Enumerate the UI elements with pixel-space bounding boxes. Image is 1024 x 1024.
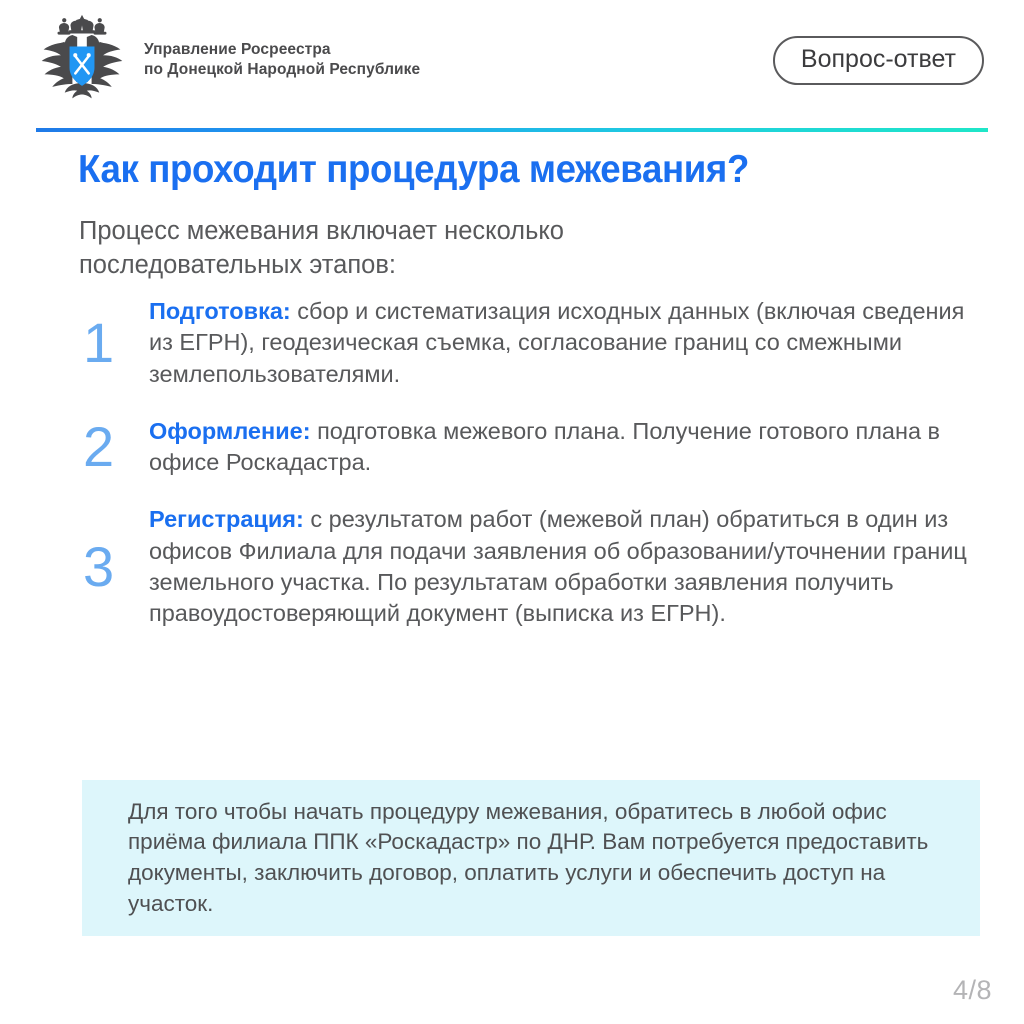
step-item: 3 Регистрация: с результатом работ (меже… <box>79 504 969 629</box>
step-label: Оформление: <box>149 418 311 444</box>
step-label: Подготовка: <box>149 298 291 324</box>
step-body: Подготовка: сбор и систематизация исходн… <box>149 296 969 390</box>
step-item: 2 Оформление: подготовка межевого плана.… <box>79 416 969 479</box>
intro-text: Процесс межевания включает несколько пос… <box>79 214 759 282</box>
step-item: 1 Подготовка: сбор и систематизация исхо… <box>79 296 969 390</box>
note-box: Для того чтобы начать процедуру межевани… <box>82 780 980 936</box>
qa-badge: Вопрос-ответ <box>773 36 984 85</box>
brand-block: Управление Росреестра по Донецкой Народн… <box>34 12 420 108</box>
step-body: Регистрация: с результатом работ (межево… <box>149 504 969 629</box>
steps-list: 1 Подготовка: сбор и систематизация исхо… <box>79 296 969 629</box>
note-text: Для того чтобы начать процедуру межевани… <box>82 797 980 919</box>
header-divider <box>36 128 988 132</box>
rosreestr-double-headed-eagle-icon <box>34 12 130 108</box>
step-number: 1 <box>79 315 149 371</box>
step-number: 3 <box>79 539 149 595</box>
slide-root: Управление Росреестра по Донецкой Народн… <box>0 0 1024 1024</box>
org-name-line1: Управление Росреестра <box>144 41 331 58</box>
step-body: Оформление: подготовка межевого плана. П… <box>149 416 969 479</box>
slide-header: Управление Росреестра по Донецкой Народн… <box>0 0 1024 120</box>
org-name-line2: по Донецкой Народной Республике <box>144 60 420 80</box>
step-label: Регистрация: <box>149 506 304 532</box>
page-number: 4/8 <box>953 975 992 1006</box>
step-number: 2 <box>79 419 149 475</box>
org-name: Управление Росреестра по Донецкой Народн… <box>144 40 420 81</box>
page-title: Как проходит процедура межевания? <box>78 148 749 192</box>
